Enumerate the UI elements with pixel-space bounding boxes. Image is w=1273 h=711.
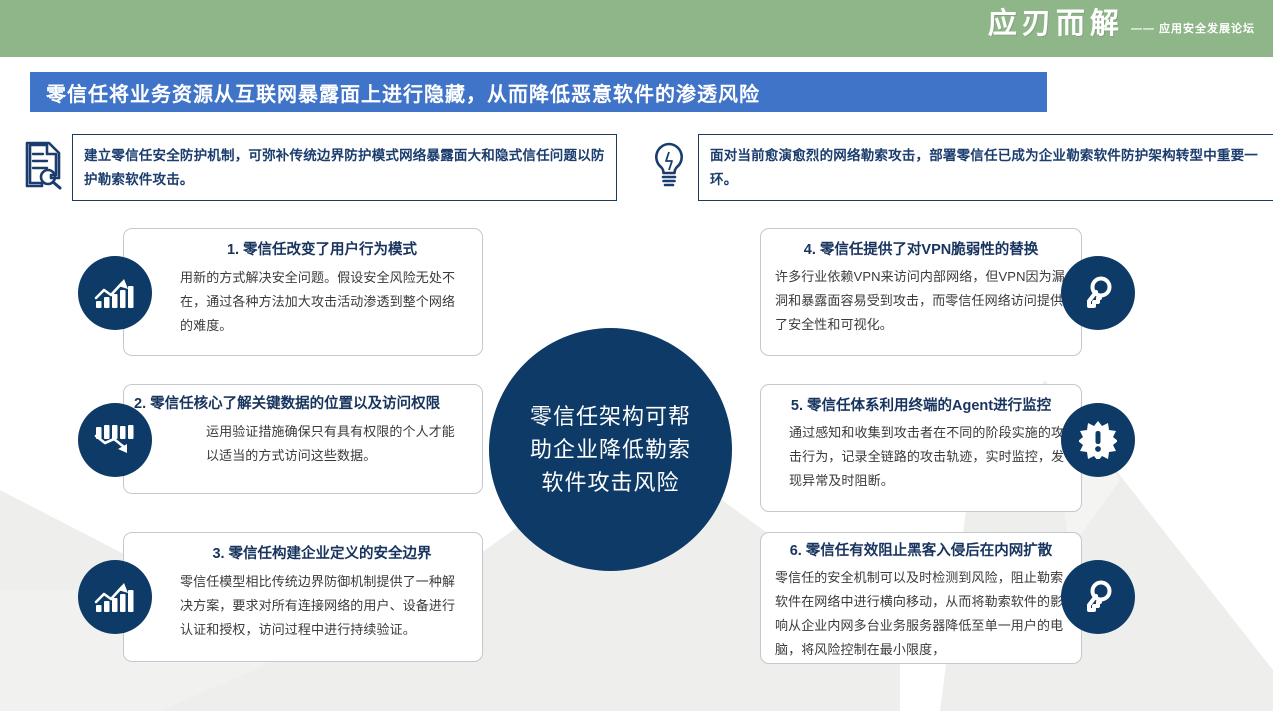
chart-down-icon	[78, 403, 152, 477]
alert-burst-icon	[1061, 403, 1135, 477]
lightbulb-icon	[648, 140, 690, 190]
callout-left: 建立零信任安全防护机制，可弥补传统边界防护模式网络暴露面大和隐式信任问题以防护勒…	[22, 134, 617, 201]
card-3[interactable]: 3. 零信任构建企业定义的安全边界 零信任模型相比传统边界防御机制提供了一种解决…	[123, 532, 483, 662]
brand-logo: 应刃而解	[988, 10, 1124, 39]
slide-root: 勒索软件攻击防护关键技术能力蓬勃发展 应刃而解 —— 应用安全发展论坛 零信任将…	[0, 0, 1273, 711]
center-circle: 零信任架构可帮助企业降低勒索软件攻击风险	[489, 328, 732, 571]
card-5[interactable]: 5. 零信任体系利用终端的Agent进行监控 通过感知和收集到攻击者在不同的阶段…	[760, 384, 1082, 512]
card-4[interactable]: 4. 零信任提供了对VPN脆弱性的替换 许多行业依赖VPN来访问内部网络，但VP…	[760, 228, 1082, 356]
card-4-body: 许多行业依赖VPN来访问内部网络，但VPN因为漏洞和暴露面容易受到攻击，而零信任…	[775, 265, 1067, 337]
key-icon	[1061, 560, 1135, 634]
card-5-body: 通过感知和收集到攻击者在不同的阶段实施的攻击行为，记录全链路的攻击轨迹，实时监控…	[775, 421, 1067, 493]
chart-up-icon	[78, 256, 152, 330]
card-6-body: 零信任的安全机制可以及时检测到风险，阻止勒索软件在网络中进行横向移动，从而将勒索…	[775, 566, 1067, 662]
section-banner-text: 零信任将业务资源从互联网暴露面上进行隐藏，从而降低恶意软件的渗透风险	[30, 78, 760, 107]
card-1-body: 用新的方式解决安全问题。假设安全风险无处不在，通过各种方法加大攻击活动渗透到整个…	[180, 266, 464, 338]
document-search-icon	[22, 140, 64, 190]
card-4-title: 4. 零信任提供了对VPN脆弱性的替换	[775, 241, 1067, 260]
card-3-body: 零信任模型相比传统边界防御机制提供了一种解决方案，要求对所有连接网络的用户、设备…	[180, 570, 464, 642]
chart-up-icon	[78, 560, 152, 634]
callout-right-text: 面对当前愈演愈烈的网络勒索攻击，部署零信任已成为企业勒索软件防护架构转型中重要一…	[710, 144, 1273, 191]
card-2[interactable]: 2. 零信任核心了解关键数据的位置以及访问权限 运用验证措施确保只有具有权限的个…	[123, 384, 483, 494]
card-2-body: 运用验证措施确保只有具有权限的个人才能以适当的方式访问这些数据。	[134, 420, 464, 468]
brand-subtitle: —— 应用安全发展论坛	[1131, 24, 1255, 39]
card-6[interactable]: 6. 零信任有效阻止黑客入侵后在内网扩散 零信任的安全机制可以及时检测到风险，阻…	[760, 532, 1082, 664]
callout-left-box: 建立零信任安全防护机制，可弥补传统边界防护模式网络暴露面大和隐式信任问题以防护勒…	[72, 134, 617, 201]
card-3-title: 3. 零信任构建企业定义的安全边界	[180, 545, 464, 564]
card-5-title: 5. 零信任体系利用终端的Agent进行监控	[775, 397, 1067, 416]
card-1[interactable]: 1. 零信任改变了用户行为模式 用新的方式解决安全问题。假设安全风险无处不在，通…	[123, 228, 483, 356]
key-icon	[1061, 256, 1135, 330]
callout-left-text: 建立零信任安全防护机制，可弥补传统边界防护模式网络暴露面大和隐式信任问题以防护勒…	[84, 144, 605, 191]
center-circle-text: 零信任架构可帮助企业降低勒索软件攻击风险	[489, 400, 732, 499]
callout-right-box: 面对当前愈演愈烈的网络勒索攻击，部署零信任已成为企业勒索软件防护架构转型中重要一…	[698, 134, 1273, 201]
card-1-title: 1. 零信任改变了用户行为模式	[180, 241, 464, 260]
brand-lockup: 应刃而解 —— 应用安全发展论坛	[988, 10, 1255, 39]
section-banner: 零信任将业务资源从互联网暴露面上进行隐藏，从而降低恶意软件的渗透风险	[30, 72, 1047, 112]
callout-right: 面对当前愈演愈烈的网络勒索攻击，部署零信任已成为企业勒索软件防护架构转型中重要一…	[648, 134, 1273, 201]
card-6-title: 6. 零信任有效阻止黑客入侵后在内网扩散	[775, 542, 1067, 561]
card-2-title: 2. 零信任核心了解关键数据的位置以及访问权限	[134, 395, 464, 414]
